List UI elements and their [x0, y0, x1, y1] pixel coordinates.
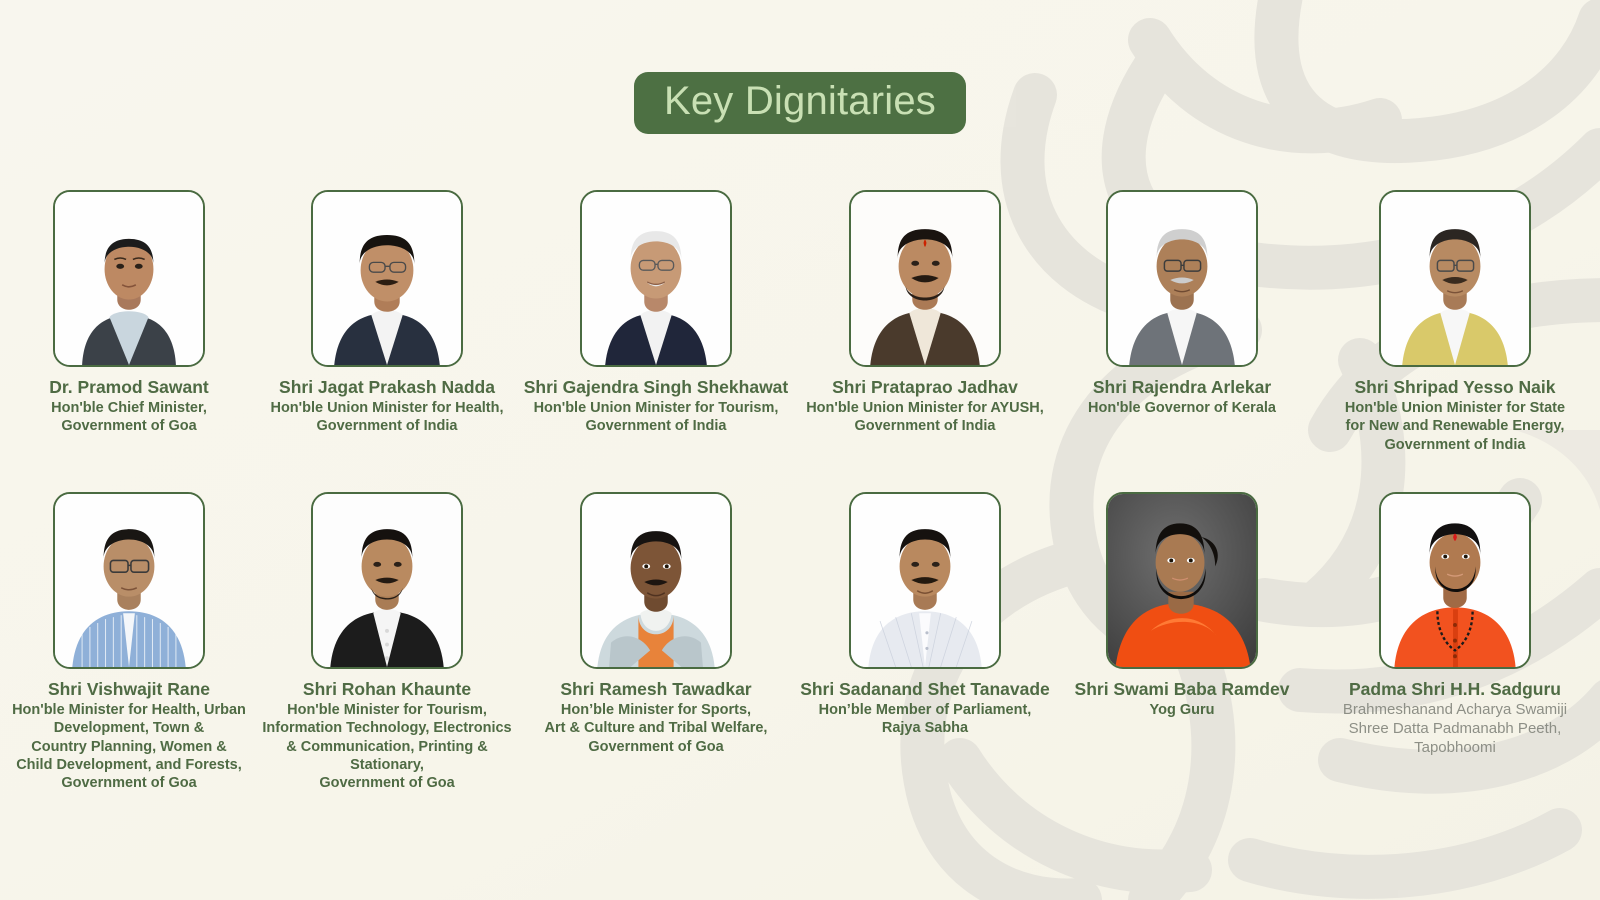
- dignitary-card-prataprao-jadhav[interactable]: Shri Prataprao Jadhav Hon'ble Union Mini…: [796, 190, 1054, 480]
- photo-frame: [311, 190, 463, 367]
- caption: Shri Sadanand Shet Tanavade Hon’ble Memb…: [798, 679, 1052, 738]
- dignitary-name: Shri Prataprao Jadhav: [806, 377, 1044, 397]
- portrait-shripad-yesso-naik: [1381, 192, 1529, 365]
- dignitary-title: Hon’ble Member of Parliament, Rajya Sabh…: [800, 701, 1050, 738]
- dignitary-name: Shri Shripad Yesso Naik: [1345, 377, 1565, 397]
- caption: Shri Gajendra Singh Shekhawat Hon'ble Un…: [522, 377, 791, 436]
- portrait-gajendra-singh-shekhawat: [582, 192, 730, 365]
- dignitary-card-rajendra-arlekar[interactable]: Shri Rajendra Arlekar Hon'ble Governor o…: [1054, 190, 1310, 480]
- dignitary-name: Shri Gajendra Singh Shekhawat: [524, 377, 789, 397]
- portrait-vishwajit-rane: [55, 494, 203, 667]
- dignitary-title: Yog Guru: [1075, 701, 1290, 719]
- dignitary-card-vishwajit-rane[interactable]: Shri Vishwajit Rane Hon'ble Minister for…: [0, 492, 258, 792]
- dignitary-name: Padma Shri H.H. Sadguru: [1343, 679, 1567, 699]
- caption: Shri Swami Baba Ramdev Yog Guru: [1073, 679, 1292, 719]
- dignitaries-grid: Dr. Pramod Sawant Hon'ble Chief Minister…: [0, 190, 1600, 792]
- caption: Shri Shripad Yesso Naik Hon'ble Union Mi…: [1343, 377, 1567, 454]
- caption: Shri Ramesh Tawadkar Hon’ble Minister fo…: [543, 679, 770, 756]
- portrait-swami-baba-ramdev: [1108, 494, 1256, 667]
- photo-frame: [1106, 492, 1258, 669]
- dignitary-title: Hon’ble Minister for Sports, Art & Cultu…: [545, 701, 768, 756]
- photo-frame: [1379, 190, 1531, 367]
- caption: Shri Jagat Prakash Nadda Hon'ble Union M…: [268, 377, 505, 436]
- dignitary-name: Shri Jagat Prakash Nadda: [270, 377, 503, 397]
- photo-frame: [849, 492, 1001, 669]
- dignitary-title: Hon'ble Union Minister for Health, Gover…: [270, 399, 503, 436]
- dignitary-name: Shri Vishwajit Rane: [12, 679, 246, 699]
- portrait-pramod-sawant: [55, 192, 203, 365]
- portrait-sadanand-shet-tanavade: [851, 494, 999, 667]
- dignitary-name: Shri Rajendra Arlekar: [1088, 377, 1276, 397]
- dignitary-card-shripad-yesso-naik[interactable]: Shri Shripad Yesso Naik Hon'ble Union Mi…: [1310, 190, 1600, 480]
- dignitary-title: Brahmeshanand Acharya Swamiji Shree Datt…: [1343, 701, 1567, 758]
- caption: Shri Rajendra Arlekar Hon'ble Governor o…: [1086, 377, 1278, 417]
- dignitary-card-jagat-prakash-nadda[interactable]: Shri Jagat Prakash Nadda Hon'ble Union M…: [258, 190, 516, 480]
- caption: Shri Prataprao Jadhav Hon'ble Union Mini…: [804, 377, 1046, 436]
- photo-frame: [311, 492, 463, 669]
- dignitary-title: Hon'ble Union Minister for Tourism, Gove…: [524, 399, 789, 436]
- dignitary-title: Hon'ble Union Minister for AYUSH, Govern…: [806, 399, 1044, 436]
- portrait-hh-sadguru: [1381, 494, 1529, 667]
- page-title: Key Dignitaries: [634, 72, 966, 134]
- dignitary-name: Shri Swami Baba Ramdev: [1075, 679, 1290, 699]
- caption: Padma Shri H.H. Sadguru Brahmeshanand Ac…: [1341, 679, 1569, 758]
- dignitary-card-rohan-khaunte[interactable]: Shri Rohan Khaunte Hon'ble Minister for …: [258, 492, 516, 792]
- portrait-rohan-khaunte: [313, 494, 461, 667]
- dignitary-name: Shri Rohan Khaunte: [260, 679, 514, 699]
- caption: Shri Vishwajit Rane Hon'ble Minister for…: [10, 679, 248, 792]
- dignitary-name: Shri Ramesh Tawadkar: [545, 679, 768, 699]
- dignitary-title: Hon'ble Union Minister for State for New…: [1345, 399, 1565, 454]
- dignitary-card-ramesh-tawadkar[interactable]: Shri Ramesh Tawadkar Hon’ble Minister fo…: [516, 492, 796, 792]
- dignitary-card-hh-sadguru[interactable]: Padma Shri H.H. Sadguru Brahmeshanand Ac…: [1310, 492, 1600, 792]
- photo-frame: [53, 492, 205, 669]
- dignitary-title: Hon'ble Governor of Kerala: [1088, 399, 1276, 417]
- dignitary-name: Shri Sadanand Shet Tanavade: [800, 679, 1050, 699]
- dignitary-card-pramod-sawant[interactable]: Dr. Pramod Sawant Hon'ble Chief Minister…: [0, 190, 258, 480]
- caption: Shri Rohan Khaunte Hon'ble Minister for …: [258, 679, 516, 792]
- caption: Dr. Pramod Sawant Hon'ble Chief Minister…: [47, 377, 211, 436]
- dignitary-card-swami-baba-ramdev[interactable]: Shri Swami Baba Ramdev Yog Guru: [1054, 492, 1310, 792]
- photo-frame: [53, 190, 205, 367]
- dignitary-title: Hon'ble Chief Minister, Government of Go…: [49, 399, 209, 436]
- photo-frame: [580, 492, 732, 669]
- dignitaries-row-2: Shri Vishwajit Rane Hon'ble Minister for…: [0, 492, 1600, 792]
- photo-frame: [1379, 492, 1531, 669]
- dignitaries-row-1: Dr. Pramod Sawant Hon'ble Chief Minister…: [0, 190, 1600, 480]
- portrait-ramesh-tawadkar: [582, 494, 730, 667]
- portrait-rajendra-arlekar: [1108, 192, 1256, 365]
- portrait-jagat-prakash-nadda: [313, 192, 461, 365]
- photo-frame: [849, 190, 1001, 367]
- dignitary-title: Hon'ble Minister for Health, Urban Devel…: [12, 701, 246, 792]
- dignitary-title: Hon'ble Minister for Tourism, Informatio…: [260, 701, 514, 792]
- dignitary-card-sadanand-shet-tanavade[interactable]: Shri Sadanand Shet Tanavade Hon’ble Memb…: [796, 492, 1054, 792]
- page-header: Key Dignitaries: [0, 0, 1600, 180]
- photo-frame: [1106, 190, 1258, 367]
- portrait-prataprao-jadhav: [851, 192, 999, 365]
- dignitary-name: Dr. Pramod Sawant: [49, 377, 209, 397]
- photo-frame: [580, 190, 732, 367]
- dignitary-card-gajendra-singh-shekhawat[interactable]: Shri Gajendra Singh Shekhawat Hon'ble Un…: [516, 190, 796, 480]
